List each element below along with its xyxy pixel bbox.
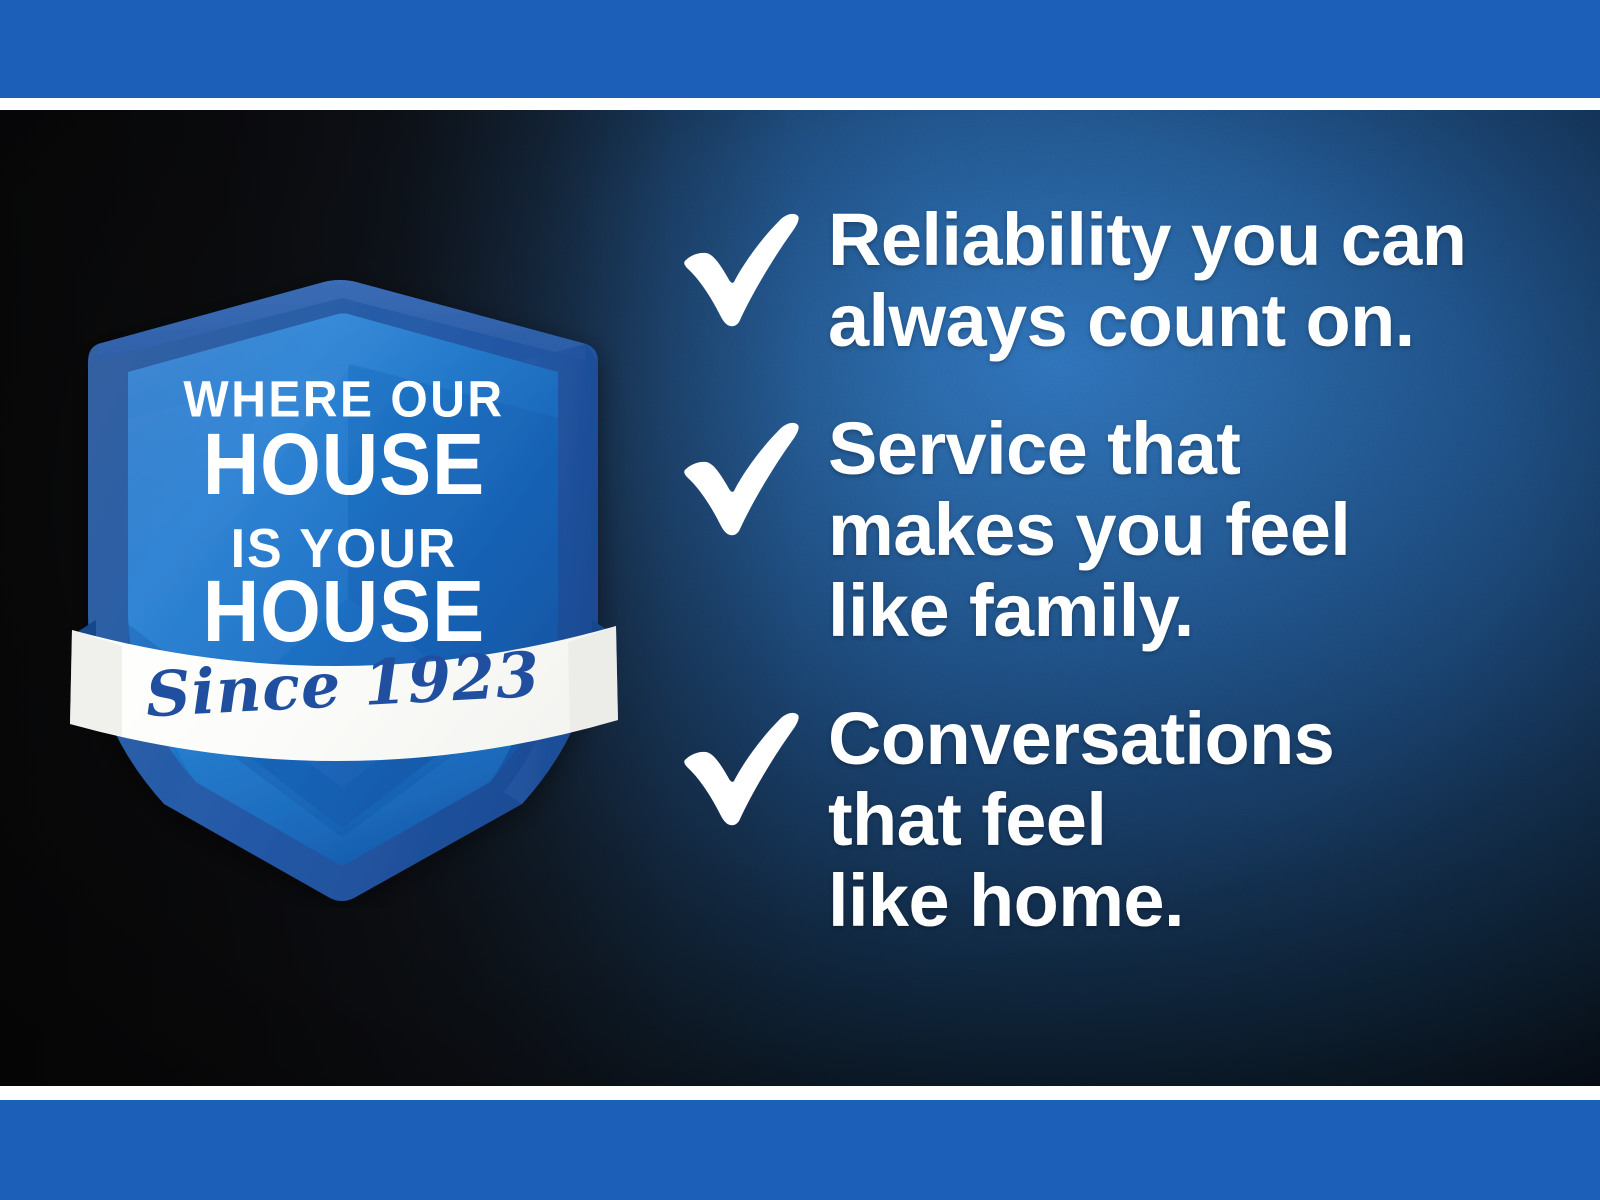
benefit-text: Conversations that feel like home.: [828, 699, 1334, 941]
benefits-list: Reliability you can always count on. Ser…: [668, 204, 1568, 941]
shield-badge: WHERE OUR HOUSE IS YOUR HOUSE: [52, 268, 632, 908]
bottom-brand-bar: [0, 1100, 1600, 1200]
top-white-divider: [0, 98, 1600, 110]
bottom-white-divider: [0, 1086, 1600, 1100]
top-brand-bar: [0, 0, 1600, 98]
benefit-text: Service that makes you feel like family.: [828, 409, 1350, 651]
benefit-item: Conversations that feel like home.: [668, 703, 1568, 941]
check-icon: [668, 208, 800, 330]
check-icon: [668, 707, 800, 829]
shield-line-2: HOUSE: [203, 415, 485, 513]
benefit-text: Reliability you can always count on.: [828, 200, 1466, 361]
check-icon: [668, 417, 800, 539]
benefit-item: Service that makes you feel like family.: [668, 413, 1568, 651]
main-canvas: WHERE OUR HOUSE IS YOUR HOUSE: [0, 108, 1600, 1088]
ribbon-shade-right: [568, 626, 618, 732]
ribbon-shade-left: [70, 630, 122, 736]
promo-graphic: WHERE OUR HOUSE IS YOUR HOUSE: [0, 0, 1600, 1200]
benefit-item: Reliability you can always count on.: [668, 204, 1568, 361]
